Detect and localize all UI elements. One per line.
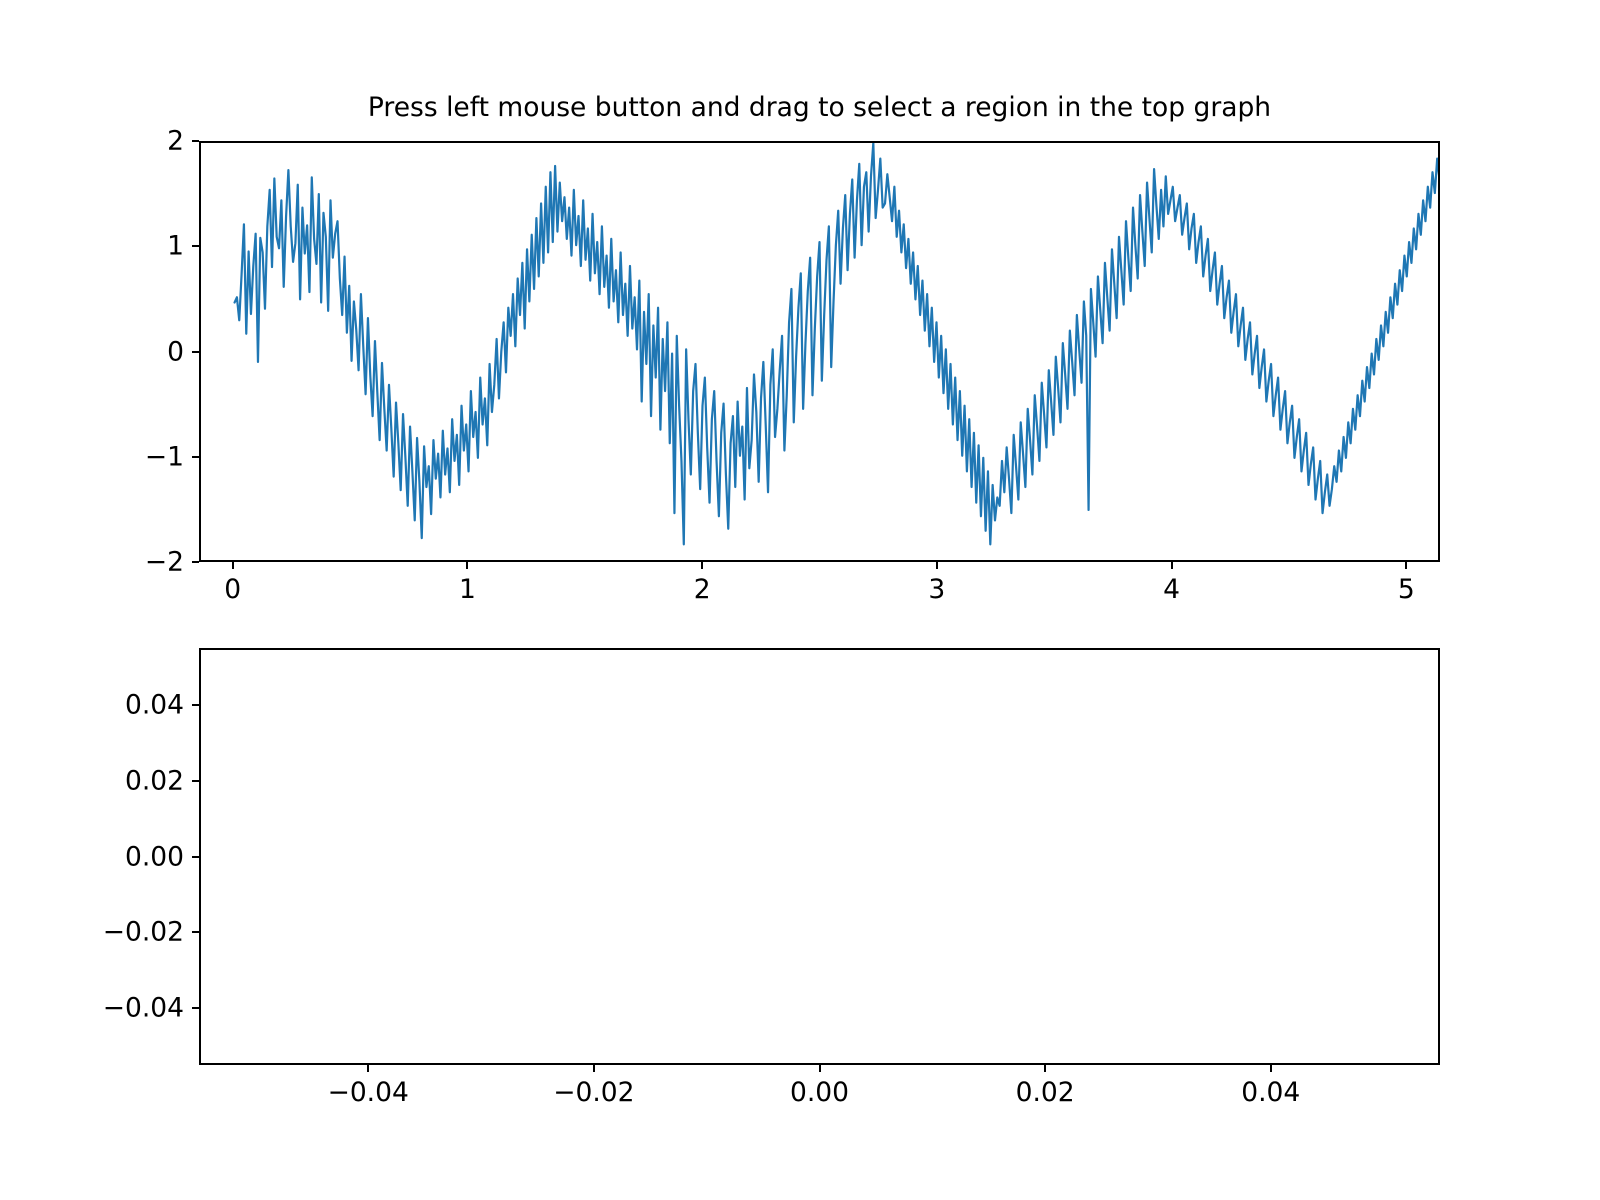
top-xtick-label: 5 xyxy=(1398,574,1415,605)
bottom-xtick-mark xyxy=(1044,1065,1046,1072)
bottom-xtick-mark xyxy=(1270,1065,1272,1072)
top-ytick-label: 2 xyxy=(0,126,184,157)
bottom-ytick-label: 0.00 xyxy=(0,841,184,872)
top-ytick-mark xyxy=(192,351,199,353)
bottom-ytick-label: −0.04 xyxy=(0,993,184,1024)
top-ytick-label: −2 xyxy=(0,547,184,578)
top-xtick-label: 1 xyxy=(459,574,476,605)
bottom-xtick-label: −0.04 xyxy=(328,1077,409,1108)
top-xtick-label: 4 xyxy=(1163,574,1180,605)
bottom-ytick-label: 0.04 xyxy=(0,689,184,720)
bottom-xtick-label: −0.02 xyxy=(553,1077,634,1108)
bottom-zoom-line xyxy=(201,650,1438,1063)
bottom-xtick-mark xyxy=(367,1065,369,1072)
bottom-xtick-mark xyxy=(593,1065,595,1072)
top-xtick-mark xyxy=(701,562,703,569)
bottom-ytick-mark xyxy=(192,856,199,858)
bottom-xtick-label: 0.02 xyxy=(1016,1077,1075,1108)
bottom-xtick-label: 0.00 xyxy=(790,1077,849,1108)
top-ytick-label: 0 xyxy=(0,336,184,367)
top-ytick-label: −1 xyxy=(0,441,184,472)
top-ytick-mark xyxy=(192,140,199,142)
top-ytick-mark xyxy=(192,245,199,247)
top-xtick-mark xyxy=(1405,562,1407,569)
top-xtick-mark xyxy=(466,562,468,569)
matplotlib-figure: Press left mouse button and drag to sele… xyxy=(0,0,1600,1200)
bottom-ytick-mark xyxy=(192,780,199,782)
bottom-ytick-label: 0.02 xyxy=(0,765,184,796)
top-xtick-label: 0 xyxy=(224,574,241,605)
top-xtick-mark xyxy=(232,562,234,569)
top-xtick-label: 2 xyxy=(694,574,711,605)
top-xtick-label: 3 xyxy=(928,574,945,605)
bottom-xtick-label: 0.04 xyxy=(1241,1077,1300,1108)
bottom-ytick-label: −0.02 xyxy=(0,917,184,948)
bottom-zoom-axes[interactable] xyxy=(199,648,1440,1065)
top-ytick-label: 1 xyxy=(0,231,184,262)
bottom-ytick-mark xyxy=(192,931,199,933)
top-xtick-mark xyxy=(936,562,938,569)
top-signal-axes[interactable] xyxy=(199,141,1440,562)
bottom-xtick-mark xyxy=(819,1065,821,1072)
signal-path xyxy=(235,143,1438,544)
bottom-ytick-mark xyxy=(192,704,199,706)
top-xtick-mark xyxy=(1171,562,1173,569)
top-ytick-mark xyxy=(192,456,199,458)
figure-title: Press left mouse button and drag to sele… xyxy=(199,92,1440,123)
top-ytick-mark xyxy=(192,561,199,563)
bottom-ytick-mark xyxy=(192,1007,199,1009)
top-signal-line xyxy=(201,143,1438,560)
